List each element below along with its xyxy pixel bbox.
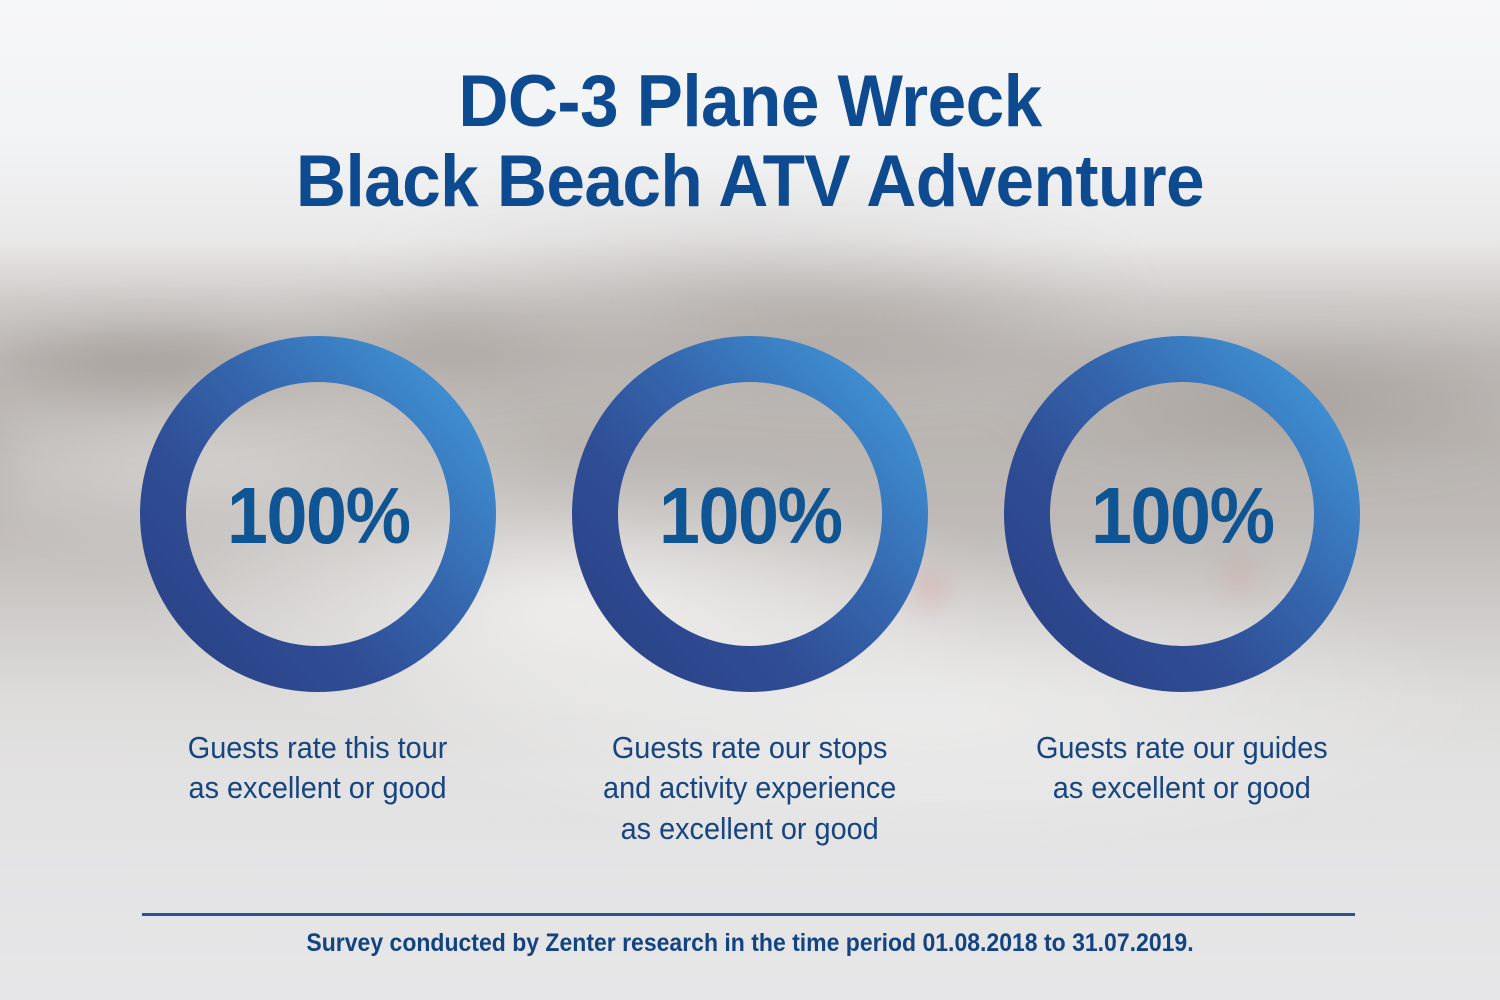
caption-line: Guests rate our stops [603, 728, 896, 768]
metric-value-tour: 100% [227, 476, 410, 556]
metric-card-stops: 100% Guests rate our stops and activity … [525, 336, 975, 849]
metric-value-stops: 100% [659, 476, 842, 556]
infographic-canvas: DC-3 Plane Wreck Black Beach ATV Adventu… [0, 0, 1500, 1000]
metric-card-tour: 100% Guests rate this tour as excellent … [93, 336, 543, 809]
caption-line: Guests rate this tour [188, 728, 448, 768]
metric-caption-tour: Guests rate this tour as excellent or go… [188, 728, 448, 809]
page-title: DC-3 Plane Wreck Black Beach ATV Adventu… [0, 62, 1500, 223]
metric-value-guides: 100% [1091, 476, 1274, 556]
metrics-row: 100% Guests rate this tour as excellent … [0, 336, 1500, 849]
title-line-2: Black Beach ATV Adventure [38, 142, 1463, 222]
caption-line: as excellent or good [603, 809, 896, 849]
metric-card-guides: 100% Guests rate our guides as excellent… [957, 336, 1407, 809]
donut-chart-stops: 100% [572, 336, 928, 692]
caption-line: as excellent or good [188, 768, 448, 808]
caption-line: and activity experience [603, 768, 896, 808]
caption-line: Guests rate our guides [1036, 728, 1328, 768]
caption-line: as excellent or good [1036, 768, 1328, 808]
survey-footnote: Survey conducted by Zenter research in t… [60, 928, 1440, 958]
donut-chart-guides: 100% [1004, 336, 1360, 692]
donut-chart-tour: 100% [140, 336, 496, 692]
metric-caption-guides: Guests rate our guides as excellent or g… [1036, 728, 1328, 809]
metric-caption-stops: Guests rate our stops and activity exper… [603, 728, 896, 849]
title-line-1: DC-3 Plane Wreck [38, 62, 1463, 142]
footer-divider [142, 913, 1355, 916]
